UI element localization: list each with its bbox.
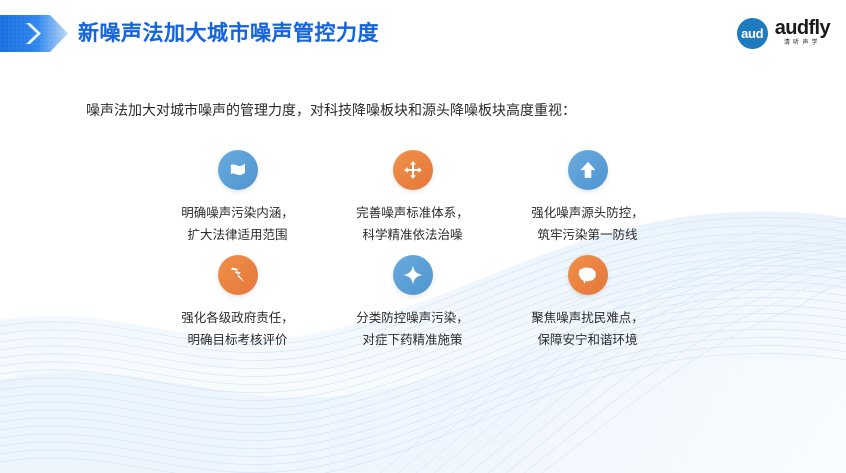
chevron-right-banner-icon — [0, 15, 68, 52]
feature-item-label-line2: 保障安宁和谐环境 — [537, 329, 637, 351]
logo-mark-label: aud — [741, 27, 763, 40]
slide-canvas: 新噪声法加大城市噪声管控力度 aud audfly 清听声学 噪声法加大对城市噪… — [0, 0, 846, 473]
sparkle-star-icon — [393, 255, 433, 295]
feature-item-label-line2: 筑牢污染第一防线 — [537, 224, 637, 246]
feature-item-label-line1: 分类防控噪声污染， — [356, 307, 469, 329]
speech-bubble-icon — [568, 255, 608, 295]
logo-wordmark: audfly — [775, 18, 830, 38]
logo-text-block: audfly 清听声学 — [775, 18, 830, 48]
move-arrows-icon — [393, 150, 433, 190]
feature-item-label-line1: 明确噪声污染内涵， — [181, 202, 294, 224]
feature-item-label-line2: 对症下药精准施策 — [362, 329, 462, 351]
feature-item-label-line2: 明确目标考核评价 — [187, 329, 287, 351]
brand-logo: aud audfly 清听声学 — [737, 17, 830, 49]
page-title: 新噪声法加大城市噪声管控力度 — [78, 17, 379, 51]
slide-header: 新噪声法加大城市噪声管控力度 aud audfly 清听声学 — [0, 0, 846, 66]
feature-items-grid: 明确噪声污染内涵， 扩大法律适用范围 完善噪声标准体系， 科学精准依法治噪 强化… — [150, 150, 750, 360]
audfly-circle-logo: aud — [737, 18, 768, 49]
flag-icon — [218, 150, 258, 190]
feature-item-label-line1: 强化各级政府责任， — [181, 307, 294, 329]
logo-subtitle: 清听声学 — [775, 39, 830, 48]
feature-item-2[interactable]: 完善噪声标准体系， 科学精准依法治噪 — [325, 150, 500, 255]
feature-item-5[interactable]: 分类防控噪声污染， 对症下药精准施策 — [325, 255, 500, 360]
lightning-bolt-icon — [218, 255, 258, 295]
feature-item-label-line1: 聚焦噪声扰民难点， — [531, 307, 644, 329]
feature-item-6[interactable]: 聚焦噪声扰民难点， 保障安宁和谐环境 — [500, 255, 675, 360]
feature-item-3[interactable]: 强化噪声源头防控， 筑牢污染第一防线 — [500, 150, 675, 255]
arrow-up-icon — [568, 150, 608, 190]
feature-item-label-line1: 强化噪声源头防控， — [531, 202, 644, 224]
feature-item-1[interactable]: 明确噪声污染内涵， 扩大法律适用范围 — [150, 150, 325, 255]
feature-item-4[interactable]: 强化各级政府责任， 明确目标考核评价 — [150, 255, 325, 360]
feature-item-label-line2: 扩大法律适用范围 — [187, 224, 287, 246]
feature-item-label-line1: 完善噪声标准体系， — [356, 202, 469, 224]
intro-paragraph: 噪声法加大对城市噪声的管理力度，对科技降噪板块和源头降噪板块高度重视： — [86, 99, 576, 121]
feature-item-label-line2: 科学精准依法治噪 — [362, 224, 462, 246]
